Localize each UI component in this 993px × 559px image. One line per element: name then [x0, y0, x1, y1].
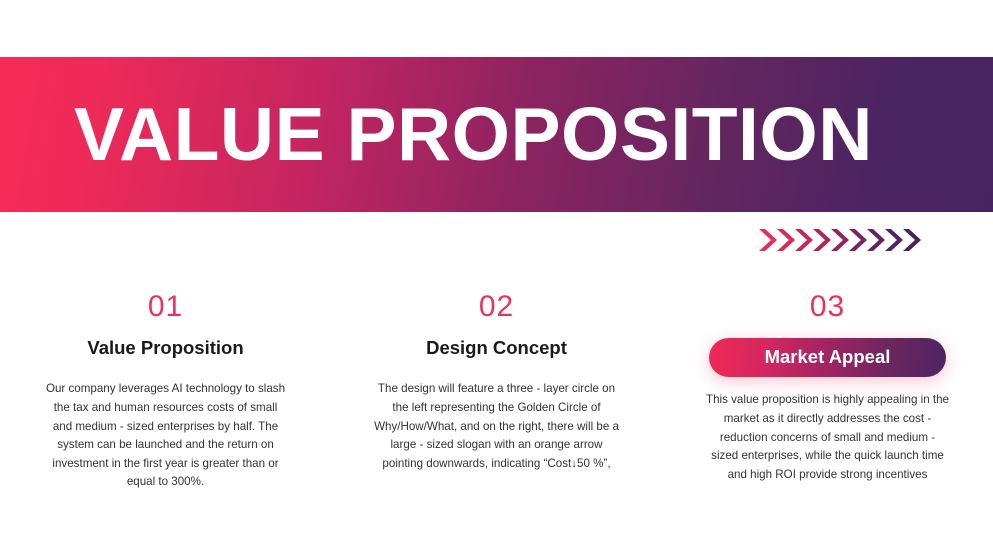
column-heading-highlighted: Market Appeal: [709, 338, 947, 377]
column-body-text: The design will feature a three - layer …: [374, 380, 619, 473]
column-body-text: This value proposition is highly appeali…: [705, 391, 950, 484]
header-banner: VALUE PROPOSITION: [0, 57, 993, 212]
column-number: 01: [148, 292, 183, 322]
column-number: 02: [479, 292, 514, 322]
chevron-icon: [865, 227, 885, 253]
chevron-icon: [883, 227, 903, 253]
column-heading: Value Proposition: [87, 338, 243, 358]
chevron-icon: [829, 227, 849, 253]
column-number: 03: [810, 292, 845, 322]
chevron-icon: [901, 227, 921, 253]
chevron-icon: [847, 227, 867, 253]
column-market-appeal: 03 Market Appeal This value proposition …: [662, 292, 993, 492]
page-title: VALUE PROPOSITION: [74, 97, 873, 172]
column-body-text: Our company leverages AI technology to s…: [43, 380, 288, 492]
content-columns: 01 Value Proposition Our company leverag…: [0, 292, 993, 492]
column-design-concept: 02 Design Concept The design will featur…: [331, 292, 662, 492]
column-value-proposition: 01 Value Proposition Our company leverag…: [0, 292, 331, 492]
chevron-icon: [757, 227, 777, 253]
chevron-icon: [775, 227, 795, 253]
chevron-icon: [793, 227, 813, 253]
chevron-arrow-decoration: [757, 226, 925, 254]
column-heading: Design Concept: [426, 338, 567, 358]
chevron-icon: [811, 227, 831, 253]
